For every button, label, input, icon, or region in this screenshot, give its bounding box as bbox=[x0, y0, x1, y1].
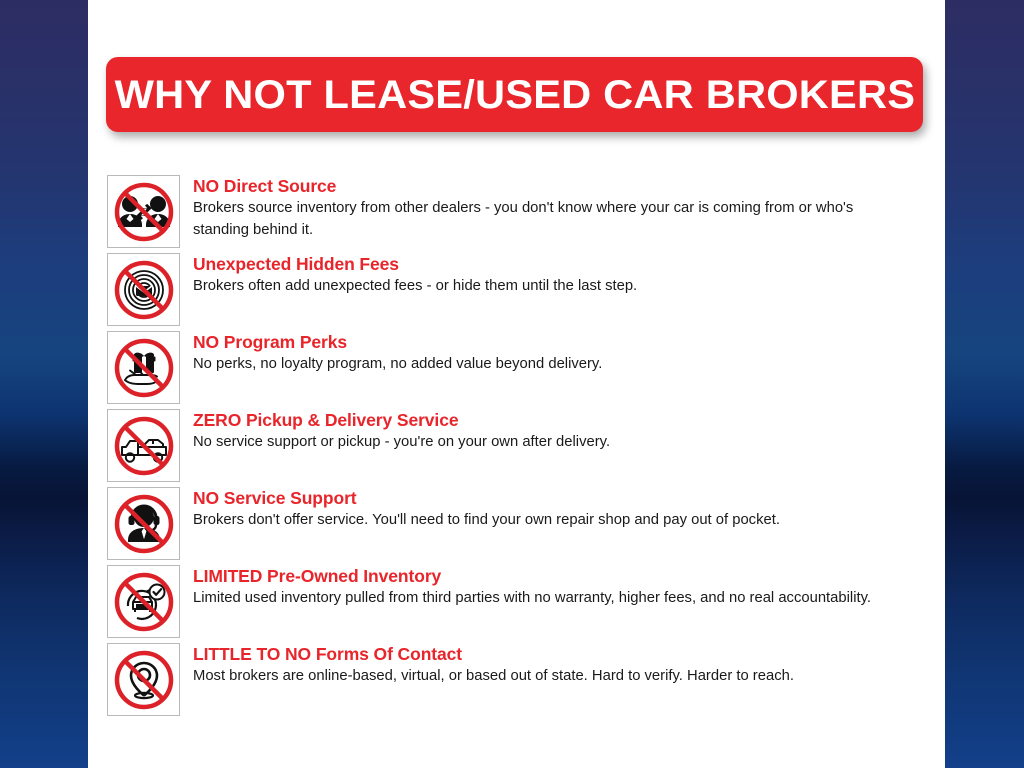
list-item-title: NO Direct Source bbox=[193, 176, 911, 196]
list-item-title: LITTLE TO NO Forms Of Contact bbox=[193, 644, 794, 664]
list-item: LITTLE TO NO Forms Of Contact Most broke… bbox=[107, 643, 937, 716]
list-item-description: Most brokers are online-based, virtual, … bbox=[193, 666, 794, 687]
reasons-list: NO Direct Source Brokers source inventor… bbox=[107, 175, 937, 721]
list-item-text: NO Direct Source Brokers source inventor… bbox=[180, 175, 911, 241]
list-item-description: Brokers don't offer service. You'll need… bbox=[193, 510, 780, 531]
list-item-text: LIMITED Pre-Owned Inventory Limited used… bbox=[180, 565, 871, 610]
list-item: NO Direct Source Brokers source inventor… bbox=[107, 175, 937, 248]
page-card: WHY NOT LEASE/USED CAR BROKERS bbox=[88, 0, 945, 768]
list-item-description: Brokers often add unexpected fees - or h… bbox=[193, 276, 637, 297]
no-gift-perks-icon bbox=[107, 331, 180, 404]
list-item-title: ZERO Pickup & Delivery Service bbox=[193, 410, 610, 430]
page-title: WHY NOT LEASE/USED CAR BROKERS bbox=[114, 75, 915, 115]
list-item-title: NO Program Perks bbox=[193, 332, 602, 352]
list-item: LIMITED Pre-Owned Inventory Limited used… bbox=[107, 565, 937, 638]
no-headset-agent-icon bbox=[107, 487, 180, 560]
list-item-title: Unexpected Hidden Fees bbox=[193, 254, 637, 274]
list-item-description: Limited used inventory pulled from third… bbox=[193, 588, 871, 609]
list-item-title: LIMITED Pre-Owned Inventory bbox=[193, 566, 871, 586]
list-item: NO Service Support Brokers don't offer s… bbox=[107, 487, 937, 560]
title-banner: WHY NOT LEASE/USED CAR BROKERS bbox=[106, 57, 923, 132]
list-item-text: LITTLE TO NO Forms Of Contact Most broke… bbox=[180, 643, 794, 688]
list-item-title: NO Service Support bbox=[193, 488, 780, 508]
no-tow-truck-delivery-icon bbox=[107, 409, 180, 482]
list-item: Unexpected Hidden Fees Brokers often add… bbox=[107, 253, 937, 326]
no-location-pin-icon bbox=[107, 643, 180, 716]
list-item: NO Program Perks No perks, no loyalty pr… bbox=[107, 331, 937, 404]
list-item-text: NO Service Support Brokers don't offer s… bbox=[180, 487, 780, 532]
list-item-text: ZERO Pickup & Delivery Service No servic… bbox=[180, 409, 610, 454]
list-item-description: No perks, no loyalty program, no added v… bbox=[193, 354, 602, 375]
list-item-text: Unexpected Hidden Fees Brokers often add… bbox=[180, 253, 637, 298]
no-people-exchange-icon bbox=[107, 175, 180, 248]
list-item-description: Brokers source inventory from other deal… bbox=[193, 198, 911, 241]
no-certified-car-inventory-icon bbox=[107, 565, 180, 638]
list-item: ZERO Pickup & Delivery Service No servic… bbox=[107, 409, 937, 482]
list-item-text: NO Program Perks No perks, no loyalty pr… bbox=[180, 331, 602, 376]
list-item-description: No service support or pickup - you're on… bbox=[193, 432, 610, 453]
no-hidden-fees-icon bbox=[107, 253, 180, 326]
